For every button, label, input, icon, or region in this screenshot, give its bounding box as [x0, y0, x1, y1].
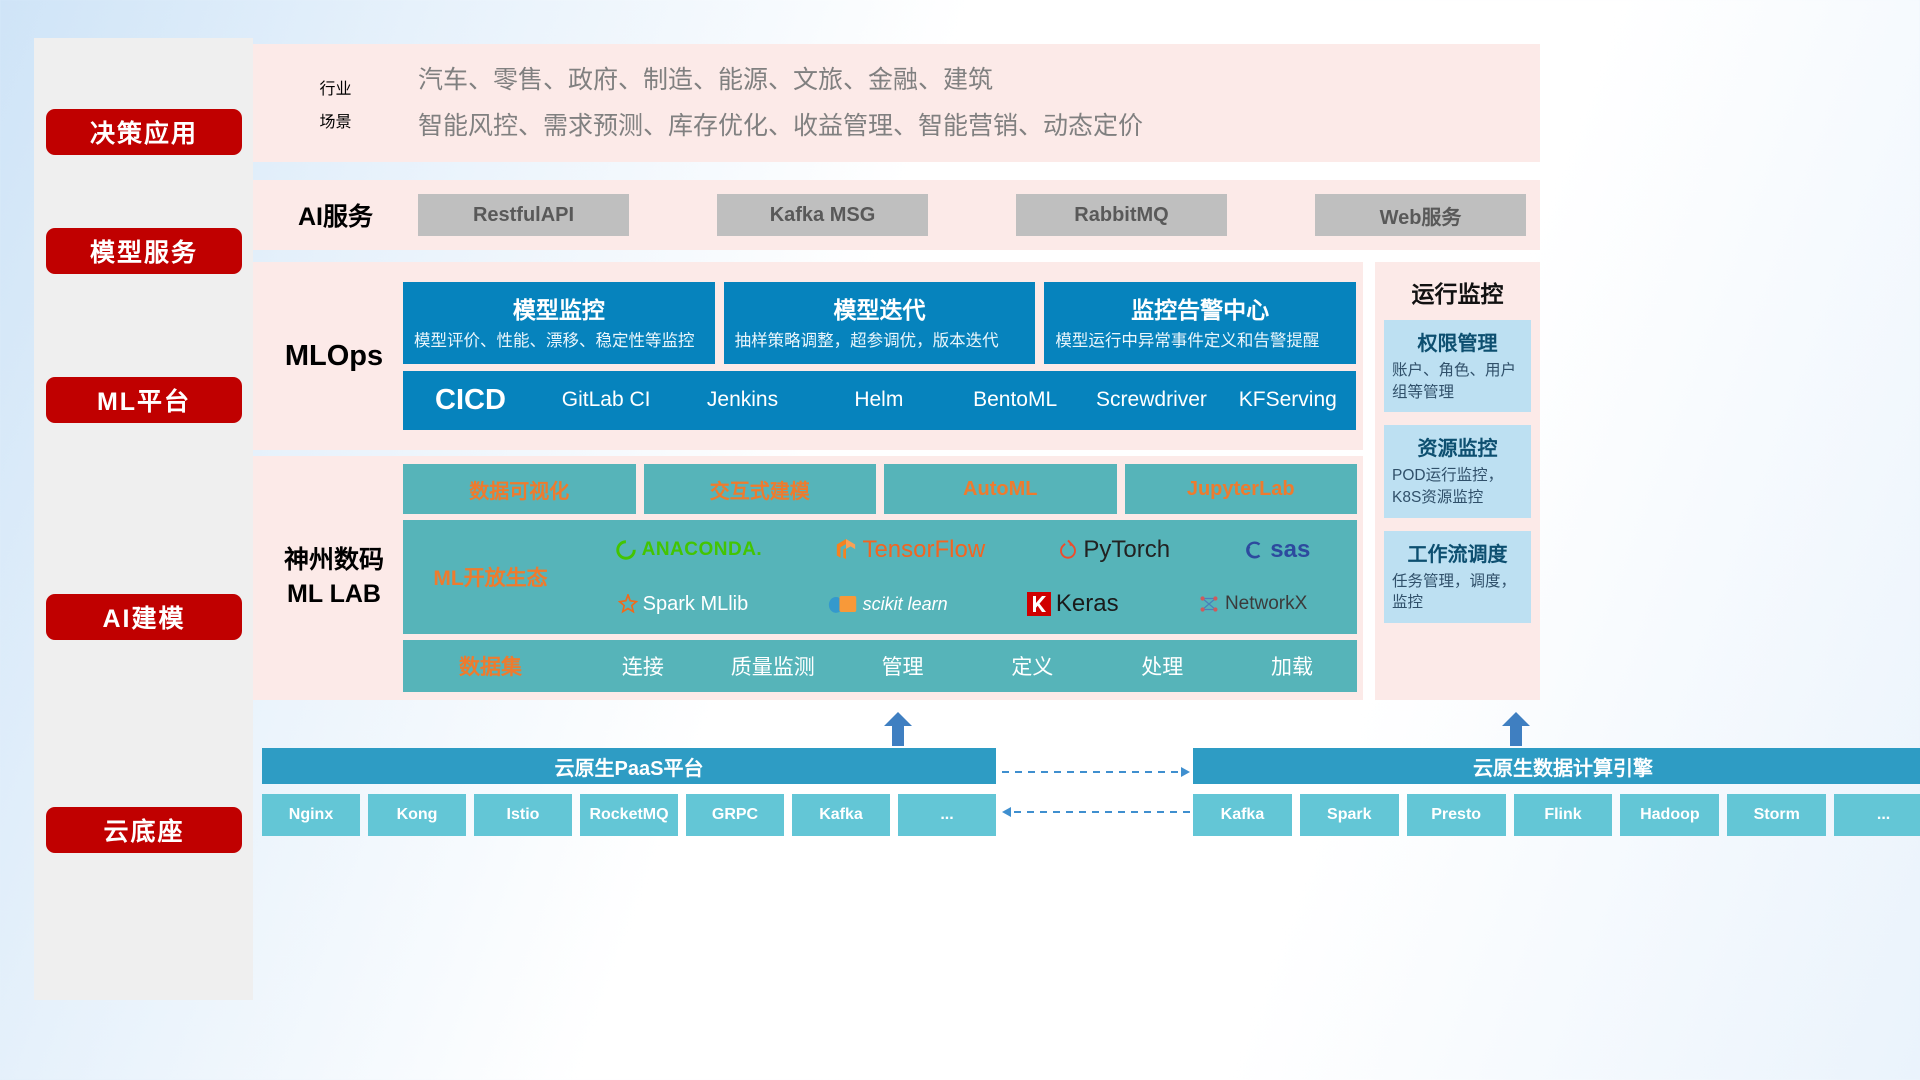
cicd-item-gitlab-ci[interactable]: GitLab CI [538, 387, 674, 414]
monitor-card-body: POD运行监控，K8S资源监控 [1392, 465, 1523, 508]
tensorflow-icon [835, 538, 857, 562]
ai-service-chip-restfulapi[interactable]: RestfulAPI [418, 194, 629, 236]
cicd-item-bentoml[interactable]: BentoML [947, 387, 1083, 414]
ml-lab-label-line2: ML LAB [265, 578, 403, 612]
engine-chip-storm[interactable]: Storm [1727, 794, 1826, 836]
monitor-card-head: 工作流调度 [1392, 538, 1523, 567]
paas-chip-nginx[interactable]: Nginx [262, 794, 360, 836]
networkx-logo: NetworkX [1198, 593, 1307, 615]
dataset-row: 数据集 连接 质量监测 管理 定义 处理 加载 [403, 640, 1357, 692]
mlops-card-title: 监控告警中心 [1055, 291, 1345, 325]
cicd-item-screwdriver[interactable]: Screwdriver [1083, 387, 1219, 414]
pytorch-label: PyTorch [1083, 536, 1170, 564]
mlops-card-model-monitoring[interactable]: 模型监控 模型评价、性能、漂移、稳定性等监控 [403, 282, 715, 364]
industry-value: 汽车、零售、政府、制造、能源、文旅、金融、建筑 [418, 57, 1143, 103]
ml-lab-tab-group: 数据可视化 交互式建模 AutoML JupyterLab [403, 464, 1357, 514]
sas-logo: sas [1243, 536, 1310, 564]
dataset-label: 数据集 [403, 651, 578, 681]
dataset-item-load[interactable]: 加载 [1227, 651, 1357, 681]
dataset-item-manage[interactable]: 管理 [838, 651, 968, 681]
sas-label: sas [1270, 536, 1310, 564]
spark-mllib-logo: Spark MLlib [618, 593, 749, 616]
engine-column: 云原生数据计算引擎 Kafka Spark Presto Flink Hadoo… [1193, 748, 1920, 836]
cloud-link-arrows [996, 760, 1196, 830]
monitor-card-head: 资源监控 [1392, 432, 1523, 461]
arrow-up-icon [1498, 712, 1534, 746]
keras-label: Keras [1056, 590, 1119, 618]
ai-service-chip-rabbitmq[interactable]: RabbitMQ [1016, 194, 1227, 236]
paas-chip-istio[interactable]: Istio [474, 794, 572, 836]
paas-chip-kong[interactable]: Kong [368, 794, 466, 836]
mlops-content: 模型监控 模型评价、性能、漂移、稳定性等监控 模型迭代 抽样策略调整，超参调优，… [403, 275, 1363, 437]
mlops-card-desc: 模型运行中异常事件定义和告警提醒 [1055, 330, 1345, 354]
ml-lab-content: 数据可视化 交互式建模 AutoML JupyterLab ML开放生态 ANA… [403, 458, 1363, 698]
anaconda-label: ANACONDA. [642, 539, 763, 561]
spark-icon [618, 594, 638, 614]
monitor-card-body: 账户、角色、用户组等管理 [1392, 360, 1523, 403]
scikit-learn-icon [828, 593, 858, 615]
engine-chip-flink[interactable]: Flink [1514, 794, 1613, 836]
monitor-card-workflow[interactable]: 工作流调度 任务管理，调度，监控 [1384, 531, 1531, 623]
pytorch-logo: PyTorch [1058, 536, 1170, 564]
ml-ecosystem-logo-row-2: Spark MLlib scikit learn Keras [578, 578, 1347, 630]
mlops-card-title: 模型迭代 [735, 291, 1025, 325]
networkx-icon [1198, 593, 1220, 615]
rail-item-ai-modeling[interactable]: AI建模 [46, 594, 242, 640]
paas-chip-kafka[interactable]: Kafka [792, 794, 890, 836]
rail-item-label: ML平台 [97, 382, 191, 418]
cicd-item-jenkins[interactable]: Jenkins [674, 387, 810, 414]
rail-item-model-service[interactable]: 模型服务 [46, 228, 242, 274]
engine-chip-spark[interactable]: Spark [1300, 794, 1399, 836]
mlops-card-group: 模型监控 模型评价、性能、漂移、稳定性等监控 模型迭代 抽样策略调整，超参调优，… [403, 282, 1356, 364]
applications-values: 汽车、零售、政府、制造、能源、文旅、金融、建筑 智能风控、需求预测、库存优化、收… [418, 57, 1143, 150]
ml-ecosystem-logo-row-1: ANACONDA. TensorFlow PyTorch [578, 524, 1347, 576]
mlops-card-alert-center[interactable]: 监控告警中心 模型运行中异常事件定义和告警提醒 [1044, 282, 1356, 364]
ml-lab-tab-interactive-modeling[interactable]: 交互式建模 [644, 464, 877, 514]
engine-chip-presto[interactable]: Presto [1407, 794, 1506, 836]
ml-lab-label: 神州数码 ML LAB [253, 544, 403, 612]
anaconda-logo: ANACONDA. [615, 539, 763, 561]
dataset-item-connect[interactable]: 连接 [578, 651, 708, 681]
cloud-base-section: 云原生PaaS平台 Nginx Kong Istio RocketMQ GRPC… [253, 730, 1540, 860]
ml-ecosystem-label: ML开放生态 [403, 562, 578, 592]
rail-item-decision-apps[interactable]: 决策应用 [46, 109, 242, 155]
dataset-item-process[interactable]: 处理 [1097, 651, 1227, 681]
anaconda-icon [615, 539, 637, 561]
paas-column: 云原生PaaS平台 Nginx Kong Istio RocketMQ GRPC… [262, 748, 996, 836]
cicd-item-kfserving[interactable]: KFServing [1220, 387, 1356, 414]
ai-service-chip-kafka-msg[interactable]: Kafka MSG [717, 194, 928, 236]
scenario-value: 智能风控、需求预测、库存优化、收益管理、智能营销、动态定价 [418, 103, 1143, 149]
dataset-item-define[interactable]: 定义 [967, 651, 1097, 681]
applications-labels: 行业 场景 [253, 66, 418, 141]
monitor-card-resource[interactable]: 资源监控 POD运行监控，K8S资源监控 [1384, 425, 1531, 517]
ai-service-band: AI服务 RestfulAPI Kafka MSG RabbitMQ Web服务 [253, 180, 1540, 250]
rail-item-label: AI建模 [102, 599, 185, 635]
dataset-item-quality-monitoring[interactable]: 质量监测 [708, 651, 838, 681]
tensorflow-logo: TensorFlow [835, 536, 985, 564]
layer-rail: 决策应用 模型服务 ML平台 AI建模 云底座 [0, 0, 253, 1080]
ml-lab-label-line1: 神州数码 [265, 544, 403, 578]
ai-service-chip-group: RestfulAPI Kafka MSG RabbitMQ Web服务 [418, 194, 1540, 236]
rail-item-label: 模型服务 [90, 233, 198, 269]
monitor-card-head: 权限管理 [1392, 327, 1523, 356]
rail-item-ml-platform[interactable]: ML平台 [46, 377, 242, 423]
cicd-item-helm[interactable]: Helm [811, 387, 947, 414]
ml-ecosystem-row: ML开放生态 ANACONDA. TensorFlow [403, 520, 1357, 634]
ml-lab-tab-data-visualization[interactable]: 数据可视化 [403, 464, 636, 514]
arrow-right-head [1181, 767, 1190, 777]
keras-icon [1027, 592, 1051, 616]
ai-service-label: AI服务 [253, 197, 418, 233]
ml-ecosystem-logos: ANACONDA. TensorFlow PyTorch [578, 520, 1357, 634]
engine-chip-hadoop[interactable]: Hadoop [1620, 794, 1719, 836]
mlops-label: MLOps [253, 340, 403, 373]
ml-lab-tab-jupyterlab[interactable]: JupyterLab [1125, 464, 1358, 514]
mlops-card-model-iteration[interactable]: 模型迭代 抽样策略调整，超参调优，版本迭代 [724, 282, 1036, 364]
paas-chip-more[interactable]: ... [898, 794, 996, 836]
decision-applications-band: 行业 场景 汽车、零售、政府、制造、能源、文旅、金融、建筑 智能风控、需求预测、… [253, 44, 1540, 162]
mlops-card-title: 模型监控 [414, 291, 704, 325]
scikit-learn-label: scikit learn [863, 594, 948, 615]
arrow-left-head [1002, 807, 1011, 817]
engine-chip-kafka[interactable]: Kafka [1193, 794, 1292, 836]
paas-chip-rocketmq[interactable]: RocketMQ [580, 794, 678, 836]
mlops-card-desc: 抽样策略调整，超参调优，版本迭代 [735, 330, 1025, 354]
monitor-card-permission[interactable]: 权限管理 账户、角色、用户组等管理 [1384, 320, 1531, 412]
rail-item-label: 决策应用 [90, 114, 198, 150]
engine-up-arrow [1498, 712, 1534, 746]
rail-item-cloud-base[interactable]: 云底座 [46, 807, 242, 853]
rail-item-label: 云底座 [103, 812, 184, 848]
ml-lab-tab-automl[interactable]: AutoML [884, 464, 1117, 514]
diagram-main: 行业 场景 汽车、零售、政府、制造、能源、文旅、金融、建筑 智能风控、需求预测、… [253, 0, 1920, 1080]
arrow-up-icon [880, 712, 916, 746]
paas-up-arrow [880, 712, 916, 746]
scenario-label: 场景 [253, 108, 418, 132]
paas-chip-grpc[interactable]: GRPC [686, 794, 784, 836]
networkx-label: NetworkX [1225, 593, 1307, 615]
cicd-label: CICD [403, 384, 538, 417]
cicd-bar: CICD GitLab CI Jenkins Helm BentoML Scre… [403, 371, 1356, 430]
layer-rail-panel: 决策应用 模型服务 ML平台 AI建模 云底座 [34, 38, 253, 1000]
mlops-card-desc: 模型评价、性能、漂移、稳定性等监控 [414, 330, 704, 354]
engine-title-bar[interactable]: 云原生数据计算引擎 [1193, 748, 1920, 784]
industry-label: 行业 [253, 75, 418, 99]
cicd-item-group: GitLab CI Jenkins Helm BentoML Screwdriv… [538, 387, 1356, 414]
mlops-band: MLOps 模型监控 模型评价、性能、漂移、稳定性等监控 模型迭代 抽样策略调整… [253, 262, 1363, 450]
spark-mllib-label: Spark MLlib [643, 593, 749, 616]
paas-title-bar[interactable]: 云原生PaaS平台 [262, 748, 996, 784]
engine-chip-more[interactable]: ... [1834, 794, 1920, 836]
sas-icon [1243, 539, 1265, 561]
paas-chip-group: Nginx Kong Istio RocketMQ GRPC Kafka ... [262, 794, 996, 836]
ai-service-chip-web-service[interactable]: Web服务 [1315, 194, 1526, 236]
architecture-diagram: 决策应用 模型服务 ML平台 AI建模 云底座 行业 场景 汽车、零售、政府、制… [0, 0, 1920, 1080]
ml-lab-band: 神州数码 ML LAB 数据可视化 交互式建模 AutoML JupyterLa… [253, 456, 1363, 700]
keras-logo: Keras [1027, 590, 1119, 618]
runtime-monitor-panel: 运行监控 权限管理 账户、角色、用户组等管理 资源监控 POD运行监控，K8S资… [1375, 262, 1540, 700]
scikit-learn-logo: scikit learn [828, 593, 948, 615]
pytorch-icon [1058, 539, 1078, 561]
engine-chip-group: Kafka Spark Presto Flink Hadoop Storm ..… [1193, 794, 1920, 836]
dataset-item-group: 连接 质量监测 管理 定义 处理 加载 [578, 651, 1357, 681]
runtime-monitor-title: 运行监控 [1375, 262, 1540, 320]
monitor-card-body: 任务管理，调度，监控 [1392, 571, 1523, 614]
tensorflow-label: TensorFlow [862, 536, 985, 564]
